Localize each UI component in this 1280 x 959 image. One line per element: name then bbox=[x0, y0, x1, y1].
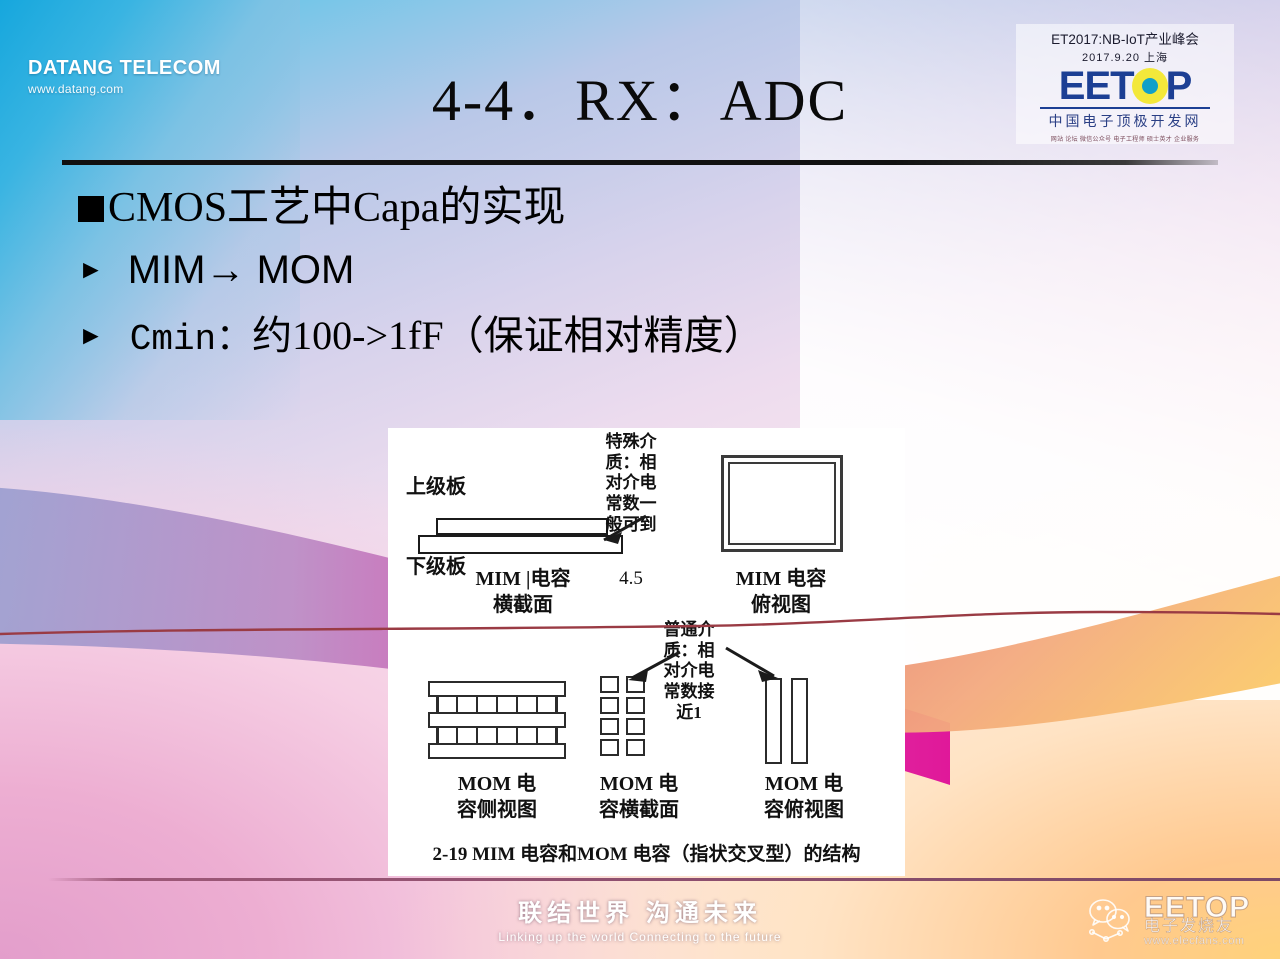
finger bbox=[555, 697, 558, 712]
caption-mom-top-line2: 容俯视图 bbox=[724, 799, 884, 823]
figure-panel: 上级板 下级板 MIM |电容 横截面 特殊介质：相对介电常数一般可到 4.5 … bbox=[388, 428, 905, 876]
caption-mom-top-line1: MOM 电 bbox=[724, 773, 884, 797]
bullet-3-label-b: 约100->1fF（保证相对精度） bbox=[252, 307, 763, 365]
note-special-dielectric-value: 4.5 bbox=[600, 568, 662, 590]
eetop-letter-e1: E bbox=[1059, 66, 1085, 106]
event-logo-line2: 2017.9.20 上海 bbox=[1082, 49, 1168, 65]
eetop-letter-t: T bbox=[1110, 66, 1133, 106]
red-accent-curve bbox=[0, 600, 1280, 650]
eetop-letter-p: P bbox=[1166, 66, 1192, 106]
bottom-divider bbox=[48, 878, 1280, 881]
bullet-item-3: ► Cmin： 约100->1fF（保证相对精度） bbox=[78, 307, 1078, 366]
mom-side-bar-2 bbox=[428, 712, 566, 728]
eetop-tagline: 网站 论坛 微信公众号 电子工程师 硕士英才 企业服务 bbox=[1051, 134, 1199, 143]
triangle-bullet-icon-2: ► bbox=[78, 317, 104, 355]
bullet-item-2: ► MIM→ MOM bbox=[78, 241, 1078, 299]
finger bbox=[456, 728, 459, 743]
finger bbox=[476, 728, 479, 743]
figure-caption: 2-19 MIM 电容和MOM 电容（指状交叉型）的结构 bbox=[388, 839, 905, 866]
mom-side-fingers-1 bbox=[436, 697, 558, 712]
finger bbox=[555, 728, 558, 743]
bullet-list: CMOS工艺中Capa的实现 ► MIM→ MOM ► Cmin： 约100->… bbox=[78, 182, 1078, 366]
mom-side-bar-3 bbox=[428, 743, 566, 759]
event-logo-line1: ET2017:NB-IoT产业峰会 bbox=[1051, 28, 1199, 48]
square-bullet-icon bbox=[78, 196, 104, 222]
caption-mom-side-line1: MOM 电 bbox=[412, 773, 582, 797]
finger bbox=[536, 697, 539, 712]
event-logo: ET2017:NB-IoT产业峰会 2017.9.20 上海 E E T P 中… bbox=[1016, 24, 1234, 144]
eetop-chinese: 中国电子顶极开发网 bbox=[1049, 111, 1202, 131]
finger bbox=[436, 697, 439, 712]
bullet-1-label: CMOS工艺中Capa的实现 bbox=[108, 182, 565, 235]
figure-inner: 上级板 下级板 MIM |电容 横截面 特殊介质：相对介电常数一般可到 4.5 … bbox=[388, 428, 905, 876]
mim-topview-shape bbox=[721, 455, 843, 552]
mom-cross-col-2 bbox=[626, 676, 645, 764]
finger bbox=[516, 728, 519, 743]
caption-mim-top-line1: MIM 电容 bbox=[706, 568, 856, 592]
bullet-item-1: CMOS工艺中Capa的实现 bbox=[78, 182, 1078, 235]
finger bbox=[496, 728, 499, 743]
watermark-text: EETOP 电子发烧友 www.elecfans.com bbox=[1144, 893, 1250, 947]
finger bbox=[436, 728, 439, 743]
mom-topview-shape bbox=[765, 678, 811, 764]
mom-side-fingers-2 bbox=[436, 728, 558, 743]
label-upper-plate: 上级板 bbox=[406, 476, 466, 498]
triangle-bullet-icon: ► bbox=[78, 251, 104, 289]
bullet-3-label-a: Cmin： bbox=[130, 314, 252, 366]
title-divider bbox=[62, 160, 1218, 165]
mim-upper-plate-shape bbox=[436, 518, 608, 535]
eetop-wordmark: E E T P bbox=[1059, 66, 1192, 106]
eetop-o-ring-icon bbox=[1132, 68, 1168, 104]
arrow-to-mom-cross-icon bbox=[616, 646, 684, 686]
slide-canvas: DATANG TELECOM www.datang.com 4-4．RX：ADC… bbox=[0, 0, 1280, 959]
finger bbox=[516, 697, 519, 712]
eetop-letter-e2: E bbox=[1084, 66, 1110, 106]
caption-mom-side-line2: 容侧视图 bbox=[412, 799, 582, 823]
mom-sideview-shape bbox=[428, 681, 566, 759]
finger bbox=[496, 697, 499, 712]
wechat-icon bbox=[1086, 896, 1140, 944]
arrow-to-mim-cross-icon bbox=[584, 510, 650, 552]
caption-mom-cross-line1: MOM 电 bbox=[564, 773, 714, 797]
caption-mim-cross-line1: MIM |电容 bbox=[448, 568, 598, 592]
watermark-url: www.elecfans.com bbox=[1144, 936, 1250, 947]
watermark: EETOP 电子发烧友 www.elecfans.com bbox=[1086, 884, 1276, 956]
caption-mom-cross-line2: 容横截面 bbox=[564, 799, 714, 823]
bullet-2-label: MIM→ MOM bbox=[128, 241, 355, 299]
finger bbox=[536, 728, 539, 743]
mim-topview-inner-border bbox=[728, 462, 836, 545]
finger bbox=[476, 697, 479, 712]
mom-side-bar-1 bbox=[428, 681, 566, 697]
mom-crosssection-shape bbox=[600, 676, 652, 764]
finger bbox=[456, 697, 459, 712]
mom-cross-col-1 bbox=[600, 676, 619, 764]
